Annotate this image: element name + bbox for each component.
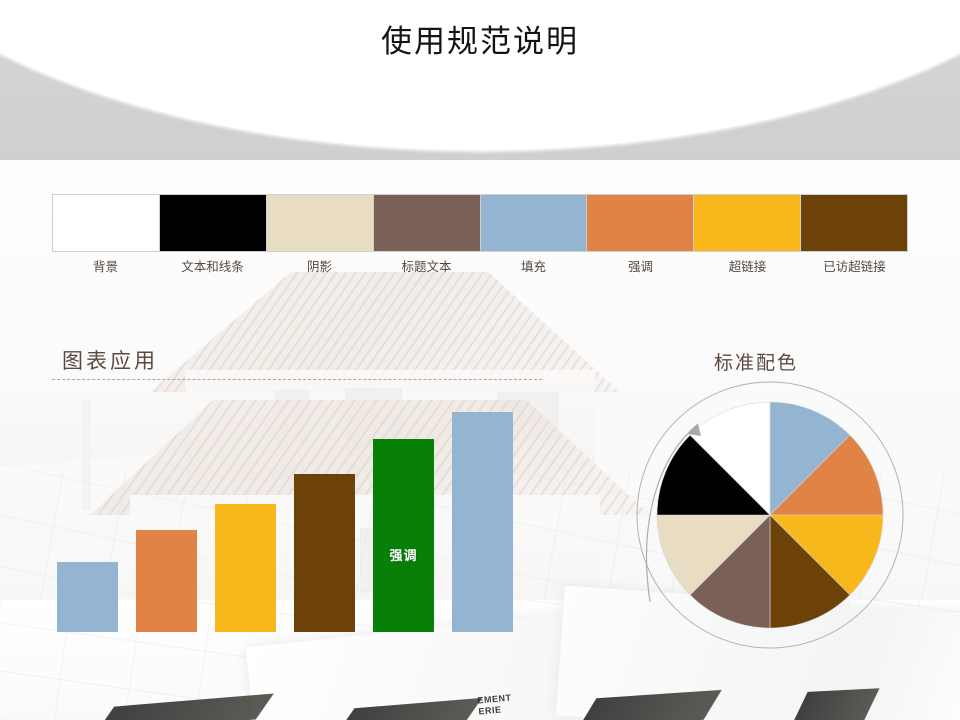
page-title: 使用规范说明 [0,16,960,61]
color-swatch-4[interactable] [374,195,481,251]
rotation-arrow-head [688,424,701,436]
color-swatch-label-3: 阴影 [266,256,373,278]
color-palette-strip [52,194,908,252]
color-swatch-label-8: 已访超链接 [801,256,908,278]
section-heading-palette: 标准配色 [714,348,798,375]
pie-chart [620,372,920,652]
bar-4[interactable] [294,474,355,632]
color-palette-labels: 背景文本和线条阴影标题文本填充强调超链接已访超链接 [52,256,908,278]
color-swatch-label-4: 标题文本 [373,256,480,278]
slide-canvas: EMENT ERIE 使用规范说明 背景文本和线条阴影标题文本填充强调超链接已访… [0,0,960,720]
bar-3[interactable] [215,504,276,632]
color-swatch-3[interactable] [267,195,374,251]
bar-6[interactable] [452,412,513,632]
section-heading-chart: 图表应用 [62,345,158,375]
pie-chart-svg [620,372,920,652]
color-swatch-2[interactable] [160,195,267,251]
color-swatch-label-2: 文本和线条 [159,256,266,278]
color-swatch-8[interactable] [801,195,907,251]
bar-2[interactable] [136,530,197,632]
pie-slice-group [657,402,883,628]
color-swatch-label-1: 背景 [52,256,159,278]
color-swatch-1[interactable] [53,195,160,251]
color-swatch-6[interactable] [587,195,694,251]
bar-5[interactable]: 强调 [373,439,434,632]
section-divider-dashed [52,379,542,380]
color-swatch-label-5: 填充 [480,256,587,278]
bar-1[interactable] [57,562,118,632]
color-swatch-7[interactable] [694,195,801,251]
color-swatch-label-7: 超链接 [694,256,801,278]
color-swatch-label-6: 强调 [587,256,694,278]
color-swatch-5[interactable] [481,195,588,251]
bar-data-label-5: 强调 [373,545,434,564]
